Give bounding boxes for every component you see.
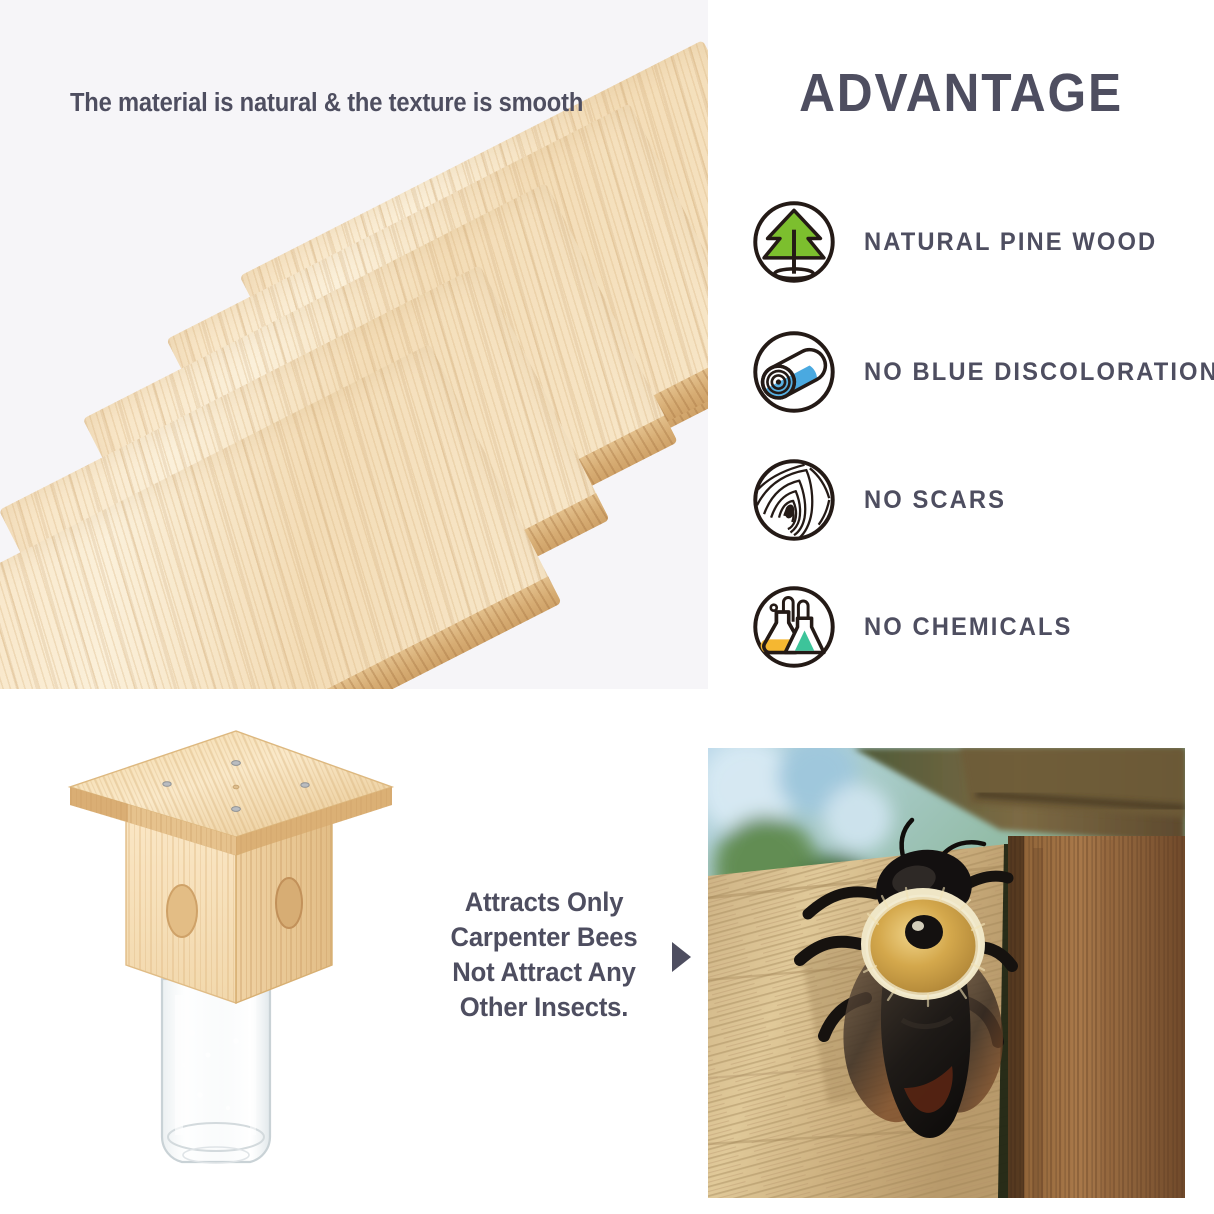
pine-tree-icon bbox=[750, 198, 838, 286]
feature-no-scars: NO SCARS bbox=[750, 456, 1014, 544]
feature-label: NATURAL PINE WOOD bbox=[864, 228, 1157, 257]
callout-line-3: Not Attract Any bbox=[430, 955, 658, 990]
lab-flasks-icon bbox=[750, 583, 838, 671]
top-headline: The material is natural & the texture is… bbox=[70, 88, 628, 119]
advantage-section: ADVANTAGE NATURAL PINE WOOD bbox=[708, 0, 1214, 689]
callout-text: Attracts Only Carpenter Bees Not Attract… bbox=[430, 885, 658, 1025]
feature-label: NO BLUE DISCOLORATION bbox=[864, 358, 1214, 387]
infographic-page: The material is natural & the texture is… bbox=[0, 0, 1214, 1214]
callout-line-2: Carpenter Bees bbox=[430, 920, 658, 955]
callout-line-4: Other Insects. bbox=[430, 990, 658, 1025]
carpenter-bee-trap-photo bbox=[40, 703, 420, 1203]
feature-natural-pine-wood: NATURAL PINE WOOD bbox=[750, 198, 1173, 286]
feature-no-chemicals: NO CHEMICALS bbox=[750, 583, 1083, 671]
callout-line-1: Attracts Only bbox=[430, 885, 658, 920]
wood-grain-knot-icon bbox=[750, 456, 838, 544]
wood-log-rings-icon bbox=[750, 328, 838, 416]
collection-jar bbox=[162, 979, 270, 1163]
feature-label: NO SCARS bbox=[864, 486, 1006, 515]
feature-no-blue-discoloration: NO BLUE DISCOLORATION bbox=[750, 328, 1214, 416]
carpenter-bee-on-wood-photo bbox=[708, 748, 1185, 1198]
feature-label: NO CHEMICALS bbox=[864, 613, 1072, 642]
right-triangle-arrow-icon bbox=[672, 942, 691, 972]
top-panel: The material is natural & the texture is… bbox=[0, 0, 1214, 689]
advantage-title: ADVANTAGE bbox=[728, 62, 1194, 124]
trap-roof bbox=[70, 731, 392, 855]
bottom-panel: Attracts Only Carpenter Bees Not Attract… bbox=[0, 689, 1214, 1214]
